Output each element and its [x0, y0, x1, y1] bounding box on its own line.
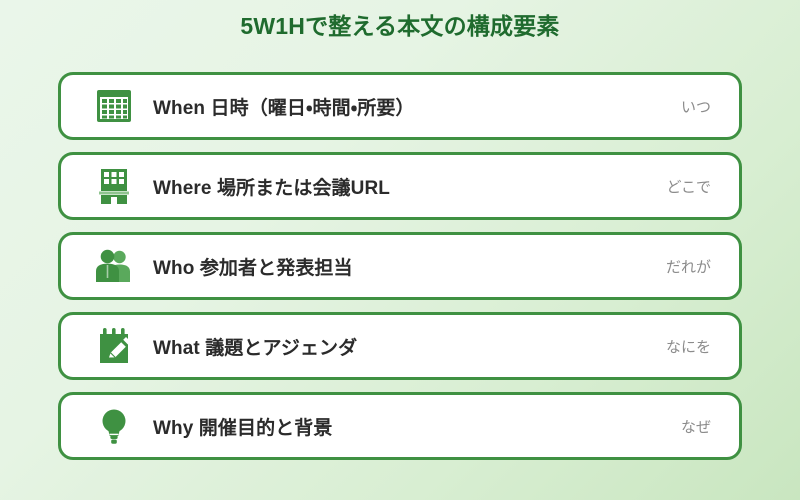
card-label: What 議題とアジェンダ — [153, 333, 666, 360]
card-who[interactable]: Who 参加者と発表担当 だれが — [58, 232, 742, 300]
calendar-icon — [91, 83, 137, 129]
lightbulb-icon — [91, 403, 137, 449]
card-label: Who 参加者と発表担当 — [153, 253, 666, 280]
card-label: When 日時（曜日・時間・所要） — [153, 93, 681, 120]
page-title: 5W1Hで整える本文の構成要素 — [0, 10, 800, 42]
card-when[interactable]: When 日時（曜日・時間・所要） いつ — [58, 72, 742, 140]
card-why[interactable]: Why 開催目的と背景 なぜ — [58, 392, 742, 460]
card-hint: どこで — [666, 176, 717, 197]
card-hint: だれが — [666, 256, 717, 277]
card-label: Where 場所または会議URL — [153, 173, 666, 200]
card-hint: いつ — [681, 96, 717, 117]
notepad-pencil-icon — [91, 323, 137, 369]
card-label: Why 開催目的と背景 — [153, 413, 681, 440]
5w1h-card-list: When 日時（曜日・時間・所要） いつ — [58, 72, 742, 460]
slide-canvas: 5W1Hで整える本文の構成要素 — [0, 0, 800, 500]
card-hint: なにを — [666, 336, 717, 357]
card-what[interactable]: What 議題とアジェンダ なにを — [58, 312, 742, 380]
people-icon — [91, 243, 137, 289]
card-where[interactable]: Where 場所または会議URL どこで — [58, 152, 742, 220]
card-hint: なぜ — [681, 416, 717, 437]
building-icon — [91, 163, 137, 209]
